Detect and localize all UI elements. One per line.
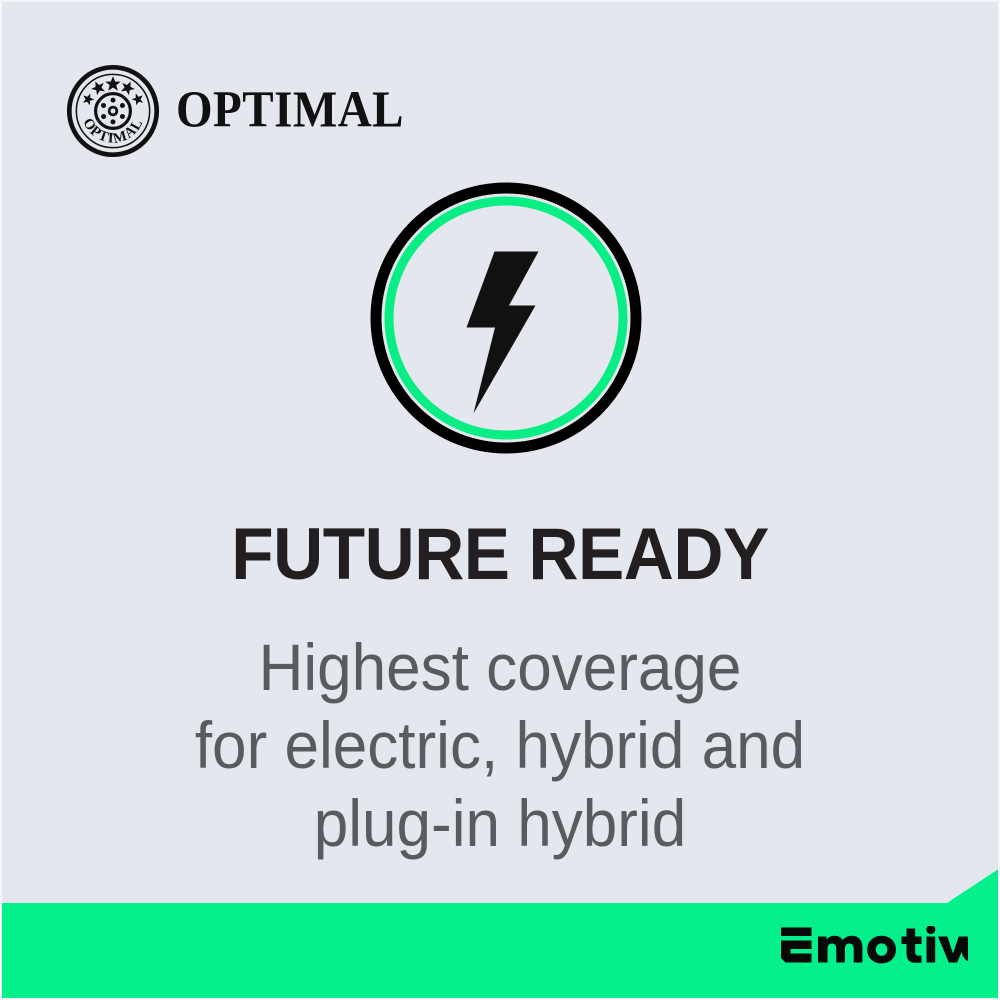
promo-card: OPTIMAL OPTIMAL	[0, 0, 1000, 1000]
lightning-bolt-in-circle-icon	[370, 182, 642, 454]
optimal-bearing-badge-icon: OPTIMAL	[66, 64, 160, 158]
emotive-logo	[780, 926, 968, 972]
subtitle-line-1: Highest coverage	[30, 628, 970, 706]
brand-header: OPTIMAL OPTIMAL	[66, 64, 416, 158]
subtitle-line-2: for electric, hybrid and	[30, 706, 970, 784]
page-title: FUTURE READY	[25, 518, 975, 591]
brand-wordmark-text: OPTIMAL	[176, 87, 404, 135]
brand-wordmark: OPTIMAL	[176, 87, 416, 135]
subtitle-line-3: plug-in hybrid	[30, 784, 970, 862]
page-subtitle: Highest coverage for electric, hybrid an…	[30, 628, 970, 862]
